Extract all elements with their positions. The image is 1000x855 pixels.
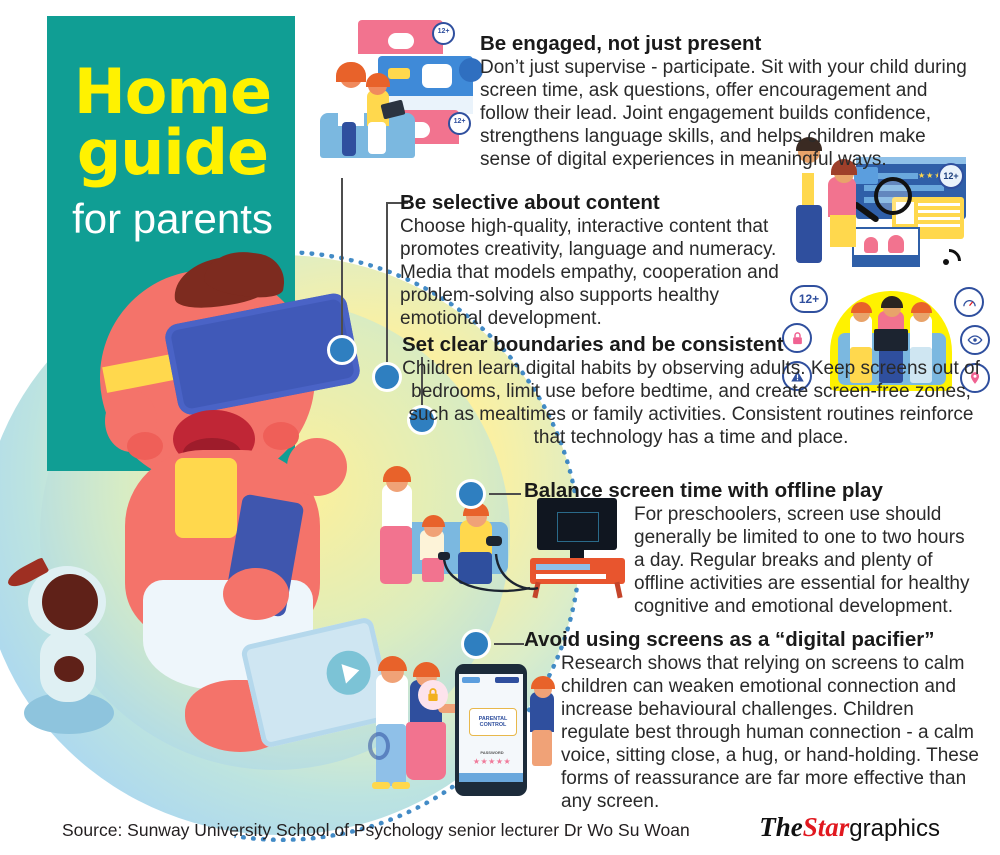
password-label: PASSWORD <box>469 750 515 755</box>
block-body: Children learn digital habits by observi… <box>402 358 980 450</box>
smartphone-parental-control: PARENTAL CONTROL PASSWORD ★★★★★ <box>455 664 527 796</box>
wifi-icon <box>934 247 958 265</box>
page-subtitle: for parents <box>55 195 290 243</box>
robot-heart-icon <box>54 656 84 682</box>
connector-dot-4[interactable] <box>456 479 486 509</box>
title-line-1: Home <box>60 62 285 123</box>
text-block-be-engaged: Be engaged, not just present Don’t just … <box>480 32 980 172</box>
phone-screen: PARENTAL CONTROL PASSWORD ★★★★★ <box>459 674 523 782</box>
girl-figure <box>828 177 856 217</box>
block-body: Research shows that relying on screens t… <box>561 653 986 814</box>
text-block-digital-pacifier: Avoid using screens as a “digital pacifi… <box>524 628 986 814</box>
block-heading: Be selective about content <box>400 191 795 215</box>
connector-line-5 <box>494 643 524 645</box>
logo-graphics: graphics <box>849 815 940 842</box>
block-heading: Balance screen time with offline play <box>524 479 979 503</box>
text-block-balance-screen-time: Balance screen time with offline play Fo… <box>524 479 979 619</box>
decor-ring <box>368 732 390 760</box>
block-heading: Be engaged, not just present <box>480 32 980 56</box>
baby-hand-holding-phone <box>223 568 289 620</box>
text-block-be-selective: Be selective about content Choose high-q… <box>400 191 795 331</box>
thestar-graphics-logo: TheStargraphics <box>759 812 940 843</box>
video-player-flamingo <box>852 227 920 267</box>
baby-cheek-right <box>263 422 299 450</box>
speed-meter-icon <box>954 287 984 317</box>
connector-line-4 <box>489 493 521 495</box>
connector-dot-5[interactable] <box>461 629 491 659</box>
block-heading: Set clear boundaries and be consistent <box>402 333 980 357</box>
illustration-toy-robot <box>10 560 115 745</box>
block-body: For preschoolers, screen use should gene… <box>634 504 979 619</box>
connector-line-2 <box>386 203 388 365</box>
illustration-selective-content: ★★★★ 12+ <box>788 155 993 285</box>
password-stars: ★★★★★ <box>469 757 515 766</box>
magnifier-icon <box>874 177 912 215</box>
connector-line-1 <box>341 178 343 338</box>
play-button-icon <box>322 646 375 699</box>
age-badge-12plus-icon: 12+ <box>432 22 455 45</box>
logo-star: Star <box>803 812 850 842</box>
connector-dot-2[interactable] <box>372 362 402 392</box>
baby-hand-raised <box>287 438 347 496</box>
source-credit: Source: Sunway University School of Psyc… <box>62 820 690 841</box>
baby-bib <box>175 458 237 538</box>
parental-control-label: PARENTAL CONTROL <box>469 708 517 736</box>
connector-dot-1[interactable] <box>327 335 357 365</box>
infographic-canvas: Home guide for parents 12+ 12+ <box>0 0 1000 855</box>
illustration-parent-child-watching: 12+ 12+ <box>320 18 485 198</box>
text-block-set-boundaries: Set clear boundaries and be consistent C… <box>402 333 980 450</box>
age-rating-12plus-icon: 12+ <box>790 285 828 313</box>
title-line-2: guide <box>60 123 285 184</box>
baby-cheek-left <box>127 432 163 460</box>
lock-badge-icon <box>418 680 448 710</box>
block-heading: Avoid using screens as a “digital pacifi… <box>524 628 986 652</box>
logo-the: The <box>759 812 803 842</box>
block-body: Choose high-quality, interactive content… <box>400 216 795 331</box>
age-badge-12plus-icon-2: 12+ <box>448 112 471 135</box>
robot-face-screen <box>42 574 98 630</box>
block-body: Don’t just supervise - participate. Sit … <box>480 57 980 172</box>
page-title: Home guide <box>60 62 285 184</box>
game-controller-icon <box>486 536 502 546</box>
